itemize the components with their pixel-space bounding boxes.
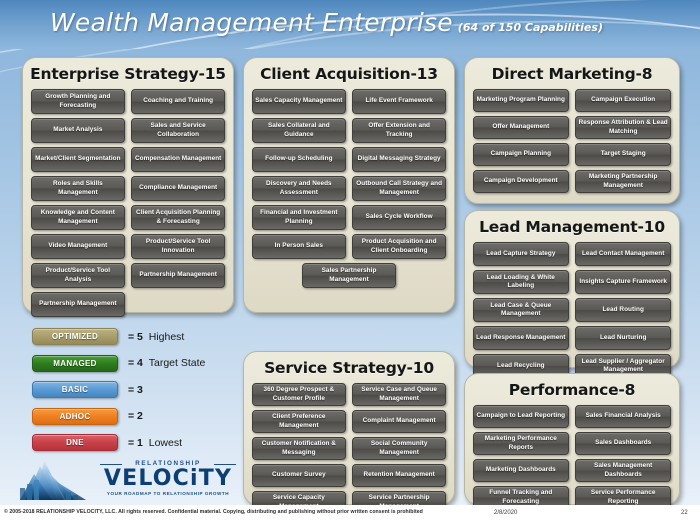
capability-item[interactable]: Campaign Development: [473, 170, 569, 193]
page-title: Wealth Management Enterprise(64 of 150 C…: [50, 8, 603, 37]
panel-title: Performance-8: [465, 374, 679, 399]
capability-item[interactable]: Product/Service Tool Innovation: [131, 234, 225, 259]
legend-label: = 1 Lowest: [128, 437, 182, 449]
logo-line-relationship: RELATIONSHIP: [98, 460, 238, 467]
legend-row-adhoc: ADHOC = 2: [32, 406, 232, 427]
legend-chip-basic[interactable]: BASIC: [32, 381, 118, 398]
legend-note: Target State: [149, 357, 206, 369]
capability-item[interactable]: Discovery and Needs Assessment: [252, 176, 346, 201]
legend-row-dne: DNE = 1 Lowest: [32, 432, 232, 453]
capability-item[interactable]: Social Community Management: [352, 437, 446, 460]
copyright-text: © 2005-2018 RELATIONSHIP VELOCITY, LLC. …: [4, 509, 423, 515]
capability-item[interactable]: Market/Client Segmentation: [31, 147, 125, 172]
capability-item[interactable]: Market Analysis: [31, 118, 125, 143]
capability-item[interactable]: Lead Routing: [575, 298, 671, 322]
capability-item[interactable]: Partnership Management: [31, 292, 125, 317]
panel-title: Client Acquisition-13: [244, 58, 454, 83]
capability-item[interactable]: Complaint Management: [352, 410, 446, 433]
legend-row-managed: MANAGED = 4 Target State: [32, 353, 232, 374]
capability-item[interactable]: Lead Capture Strategy: [473, 242, 569, 266]
capability-item[interactable]: Lead Contact Management: [575, 242, 671, 266]
legend-value: = 1: [128, 437, 143, 449]
capability-item[interactable]: Product/Service Tool Analysis: [31, 263, 125, 288]
footer-page-number: 22: [681, 510, 688, 516]
legend-label: = 3: [128, 384, 149, 396]
capability-grid: Lead Capture Strategy Lead Contact Manag…: [465, 236, 679, 389]
logo-tagline: YOUR ROADMAP TO RELATIONSHIP GROWTH: [98, 491, 238, 496]
legend-note: Highest: [149, 331, 185, 343]
capability-item[interactable]: Outbound Call Strategy and Management: [352, 176, 446, 201]
legend-value: = 2: [128, 410, 143, 422]
legend-chip-managed[interactable]: MANAGED: [32, 355, 118, 372]
capability-item[interactable]: Offer Extension and Tracking: [352, 118, 446, 143]
capability-item[interactable]: Marketing Dashboards: [473, 459, 569, 482]
capability-item[interactable]: Digital Messaging Strategy: [352, 147, 446, 172]
capability-item[interactable]: Offer Management: [473, 116, 569, 139]
legend-value: = 4: [128, 357, 143, 369]
panel-lead-management[interactable]: Lead Management-10 Lead Capture Strategy…: [464, 210, 680, 368]
legend-value: = 3: [128, 384, 143, 396]
capability-item[interactable]: Life Event Framework: [352, 89, 446, 114]
capability-item[interactable]: Roles and Skills Management: [31, 176, 125, 201]
capability-item[interactable]: 360 Degree Prospect & Customer Profile: [252, 383, 346, 406]
capability-item[interactable]: Sales Capacity Management: [252, 89, 346, 114]
capability-item[interactable]: Sales Management Dashboards: [575, 459, 671, 482]
legend-value: = 5: [128, 331, 143, 343]
capability-item[interactable]: Lead Case & Queue Management: [473, 298, 569, 322]
capability-grid: Marketing Program Planning Campaign Exec…: [465, 83, 679, 204]
capability-item[interactable]: Knowledge and Content Management: [31, 205, 125, 230]
capability-grid: 360 Degree Prospect & Customer Profile S…: [244, 377, 454, 522]
capability-item[interactable]: Sales and Service Collaboration: [131, 118, 225, 143]
legend-chip-dne[interactable]: DNE: [32, 434, 118, 451]
capability-item[interactable]: Compensation Management: [131, 147, 225, 172]
capability-item[interactable]: Lead Nurturing: [575, 326, 671, 350]
relationship-velocity-mark-icon: [18, 458, 90, 502]
capability-item[interactable]: Customer Notification & Messaging: [252, 437, 346, 460]
capability-grid: Campaign to Lead Reporting Sales Financi…: [465, 399, 679, 520]
capability-item[interactable]: Campaign Execution: [575, 89, 671, 112]
company-logo: RELATIONSHIP VELOCiTY YOUR ROADMAP TO RE…: [18, 458, 233, 504]
panel-performance[interactable]: Performance-8 Campaign to Lead Reporting…: [464, 373, 680, 505]
capability-item[interactable]: Growth Planning and Forecasting: [31, 89, 125, 114]
legend-row-basic: BASIC = 3: [32, 379, 232, 400]
capability-item[interactable]: Sales Cycle Workflow: [352, 205, 446, 230]
capability-grid: Growth Planning and Forecasting Coaching…: [23, 83, 233, 328]
slide-canvas: Wealth Management Enterprise(64 of 150 C…: [0, 0, 700, 522]
panel-title: Service Strategy-10: [244, 352, 454, 377]
capability-item[interactable]: In Person Sales: [252, 234, 346, 259]
capability-item[interactable]: Product Acquisition and Client Onboardin…: [352, 234, 446, 259]
panel-direct-marketing[interactable]: Direct Marketing-8 Marketing Program Pla…: [464, 57, 680, 204]
capability-item[interactable]: Target Staging: [575, 143, 671, 166]
panel-client-acquisition[interactable]: Client Acquisition-13 Sales Capacity Man…: [243, 57, 455, 313]
legend-chip-adhoc[interactable]: ADHOC: [32, 408, 118, 425]
legend-row-optimized: OPTIMIZED = 5 Highest: [32, 326, 232, 347]
capability-item[interactable]: Client Acquisition Planning & Forecastin…: [131, 205, 225, 230]
capability-item[interactable]: Response Attribution & Lead Matching: [575, 116, 671, 139]
legend-label: = 5 Highest: [128, 331, 184, 343]
panel-title: Direct Marketing-8: [465, 58, 679, 83]
capability-item[interactable]: Client Preference Management: [252, 410, 346, 433]
capability-item[interactable]: Service Case and Queue Management: [352, 383, 446, 406]
capability-item[interactable]: Marketing Partnership Management: [575, 170, 671, 193]
slide-footer: © 2005-2018 RELATIONSHIP VELOCITY, LLC. …: [0, 505, 700, 522]
legend-label: = 4 Target State: [128, 357, 205, 369]
capability-item[interactable]: Lead Loading & White Labeling: [473, 270, 569, 294]
legend-chip-optimized[interactable]: OPTIMIZED: [32, 328, 118, 345]
logo-wordmark: RELATIONSHIP VELOCiTY YOUR ROADMAP TO RE…: [98, 460, 238, 496]
panel-title: Enterprise Strategy-15: [23, 58, 233, 83]
legend-label: = 2: [128, 410, 149, 422]
capability-item[interactable]: Sales Dashboards: [575, 432, 671, 455]
capability-item[interactable]: Lead Response Management: [473, 326, 569, 350]
capability-item[interactable]: Sales Partnership Management: [302, 263, 396, 288]
footer-date: 2/8/2020: [494, 510, 517, 516]
capability-item[interactable]: Coaching and Training: [131, 89, 225, 114]
title-text: Wealth Management Enterprise: [50, 8, 453, 37]
capability-item[interactable]: Video Management: [31, 234, 125, 259]
capability-item[interactable]: Customer Survey: [252, 464, 346, 487]
capability-item[interactable]: Campaign to Lead Reporting: [473, 405, 569, 428]
logo-line-velocity: VELOCiTY: [98, 467, 238, 490]
capability-item[interactable]: Partnership Management: [131, 263, 225, 288]
capability-item[interactable]: Follow-up Scheduling: [252, 147, 346, 172]
capability-item[interactable]: Marketing Program Planning: [473, 89, 569, 112]
capability-grid: Sales Capacity Management Life Event Fra…: [244, 83, 454, 299]
panel-service-strategy[interactable]: Service Strategy-10 360 Degree Prospect …: [243, 351, 455, 505]
capability-item[interactable]: Retention Management: [352, 464, 446, 487]
title-subtext: (64 of 150 Capabilities): [458, 21, 603, 34]
legend-note: Lowest: [149, 437, 182, 449]
panel-title: Lead Management-10: [465, 211, 679, 236]
capability-item[interactable]: Financial and Investment Planning: [252, 205, 346, 230]
capability-item[interactable]: Campaign Planning: [473, 143, 569, 166]
capability-item[interactable]: Sales Financial Analysis: [575, 405, 671, 428]
capability-item[interactable]: Compliance Management: [131, 176, 225, 201]
capability-item[interactable]: Marketing Performance Reports: [473, 432, 569, 455]
capability-item[interactable]: Insights Capture Framework: [575, 270, 671, 294]
maturity-legend: OPTIMIZED = 5 Highest MANAGED = 4 Target…: [32, 326, 232, 459]
panel-enterprise-strategy[interactable]: Enterprise Strategy-15 Growth Planning a…: [22, 57, 234, 313]
capability-item[interactable]: Sales Collateral and Guidance: [252, 118, 346, 143]
